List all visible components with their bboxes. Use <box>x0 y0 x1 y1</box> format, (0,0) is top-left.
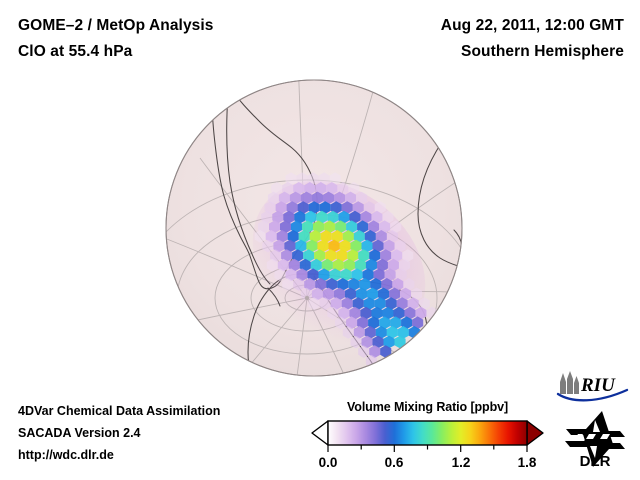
colorbar-gradient <box>328 421 527 445</box>
colorbar-title: Volume Mixing Ratio [ppbv] <box>310 400 545 414</box>
colorbar-block: Volume Mixing Ratio [ppbv] <box>310 400 545 471</box>
colorbar-tick-2: 1.2 <box>452 455 471 470</box>
colorbar-svg: 0.0 0.6 1.2 1.8 <box>310 419 545 471</box>
colorbar-tick-0: 0.0 <box>319 455 338 470</box>
header-right: Aug 22, 2011, 12:00 GMT Southern Hemisph… <box>441 13 624 65</box>
assimilation-label: 4DVar Chemical Data Assimilation <box>18 400 220 422</box>
dlr-logo-svg: DLR <box>562 410 628 468</box>
riu-logo-svg: RIU <box>556 370 630 402</box>
colorbar-tick-3: 1.8 <box>518 455 537 470</box>
header-left: GOME–2 / MetOp Analysis ClO at 55.4 hPa <box>18 13 214 65</box>
colorbar-tick-1: 0.6 <box>385 455 404 470</box>
globe-map <box>164 78 464 378</box>
footer-left: 4DVar Chemical Data Assimilation SACADA … <box>18 400 220 466</box>
orthographic-globe-svg <box>164 78 464 378</box>
colorbar-ticks <box>328 445 527 452</box>
version-label: SACADA Version 2.4 <box>18 422 220 444</box>
riu-spires-icon <box>560 371 579 394</box>
instrument-title: GOME–2 / MetOp Analysis <box>18 13 214 39</box>
colorbar-extend-high <box>527 421 543 445</box>
url-label[interactable]: http://wdc.dlr.de <box>18 444 220 466</box>
riu-wordmark: RIU <box>580 375 616 396</box>
dlr-wordmark: DLR <box>580 453 611 468</box>
colorbar-extend-low <box>312 421 328 445</box>
riu-logo: RIU <box>556 370 630 407</box>
hemisphere-label: Southern Hemisphere <box>441 39 624 65</box>
south-pole-marker <box>305 296 309 300</box>
timestamp-label: Aug 22, 2011, 12:00 GMT <box>441 13 624 39</box>
visualization-page: GOME–2 / MetOp Analysis ClO at 55.4 hPa … <box>0 0 640 480</box>
dlr-logo: DLR <box>562 410 628 473</box>
species-level-title: ClO at 55.4 hPa <box>18 39 214 65</box>
colorbar-tick-labels: 0.0 0.6 1.2 1.8 <box>319 455 537 470</box>
